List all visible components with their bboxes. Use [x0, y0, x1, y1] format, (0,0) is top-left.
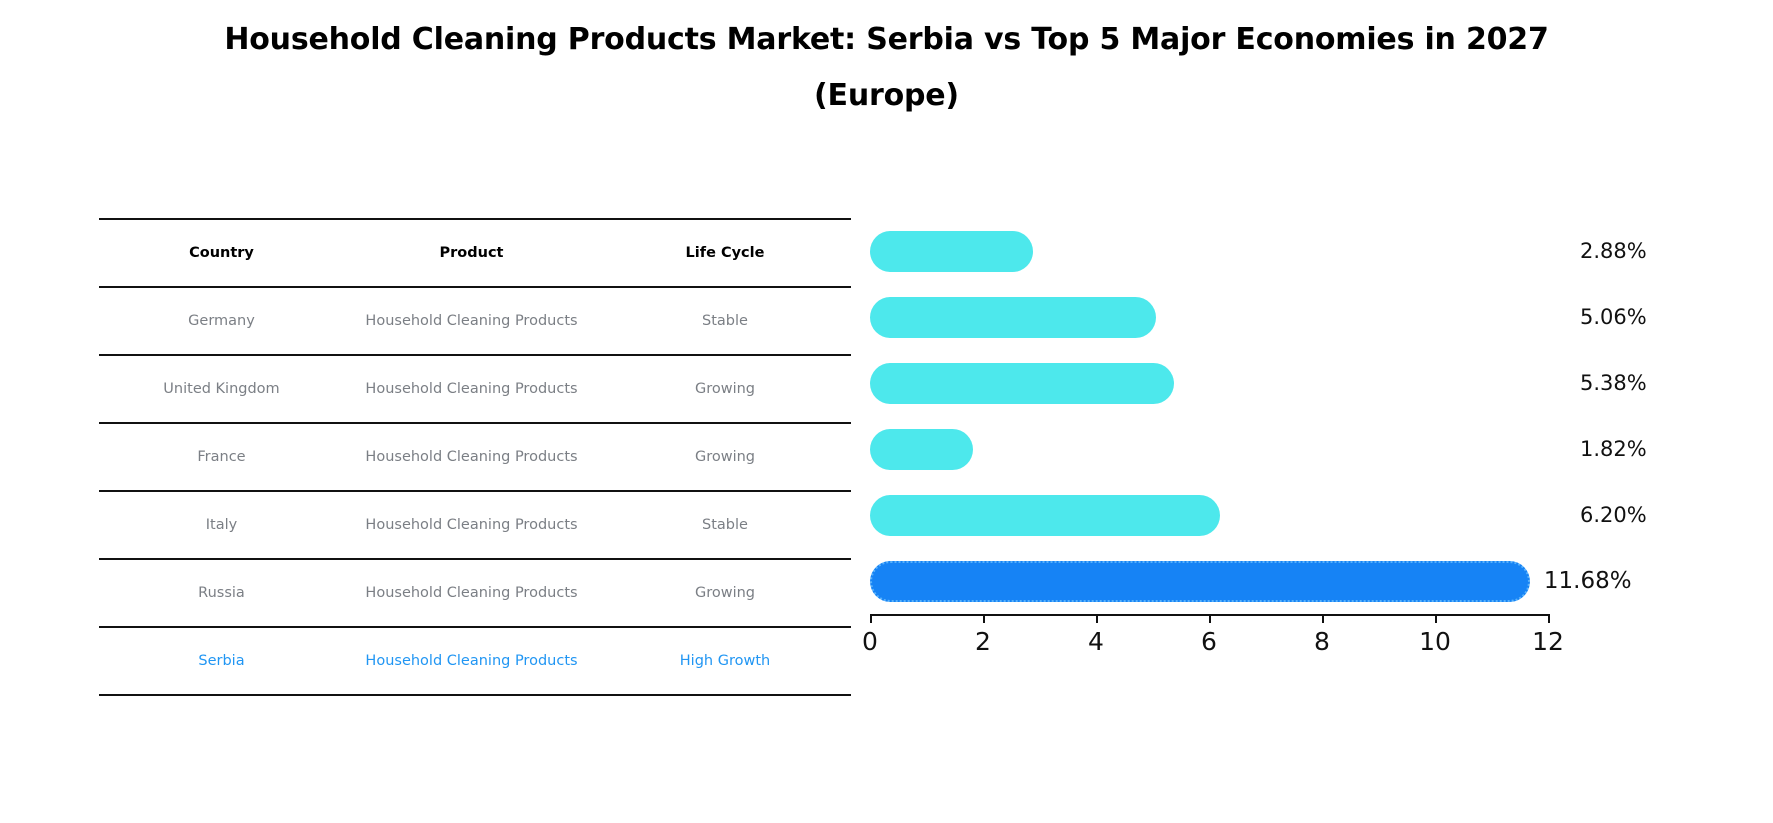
- bar-value-label: 11.68%: [1544, 568, 1632, 594]
- table-cell-life-cycle: High Growth: [599, 627, 851, 695]
- bar-serbia: [870, 561, 1530, 602]
- bar-france: [870, 363, 1174, 404]
- table-cell-country: Italy: [99, 491, 344, 559]
- bar-row: 2.88%: [870, 218, 1548, 284]
- x-axis-tick: [870, 614, 872, 623]
- table-body: GermanyHousehold Cleaning ProductsStable…: [99, 287, 851, 695]
- bar-value-label: 1.82%: [1580, 437, 1647, 461]
- x-axis-tick-label: 10: [1419, 627, 1451, 656]
- bar-value-label: 5.38%: [1580, 371, 1647, 395]
- country-table: Country Product Life Cycle GermanyHouseh…: [99, 218, 851, 696]
- x-axis-tick-label: 4: [1088, 627, 1104, 656]
- x-axis-tick: [1322, 614, 1324, 623]
- x-axis-tick: [1096, 614, 1098, 623]
- bars-area: 2.88%5.06%5.38%1.82%6.20%11.68%: [870, 218, 1548, 614]
- x-axis-tick: [1435, 614, 1437, 623]
- bar-italy: [870, 429, 973, 470]
- table-cell-life-cycle: Stable: [599, 287, 851, 355]
- table-cell-product: Household Cleaning Products: [344, 423, 599, 491]
- bar-row: 1.82%: [870, 416, 1548, 482]
- chart-title-line-1: Household Cleaning Products Market: Serb…: [0, 12, 1773, 68]
- x-axis-tick: [1548, 614, 1550, 623]
- bar-row: 11.68%: [870, 548, 1548, 614]
- table-row: FranceHousehold Cleaning ProductsGrowing: [99, 423, 851, 491]
- bar-chart-panel: 2.88%5.06%5.38%1.82%6.20%11.68% 02468101…: [870, 218, 1548, 688]
- x-axis-tick: [983, 614, 985, 623]
- column-header-product: Product: [344, 219, 599, 287]
- bar-value-label: 2.88%: [1580, 239, 1647, 263]
- x-axis-tick-label: 0: [862, 627, 878, 656]
- table-cell-life-cycle: Stable: [599, 491, 851, 559]
- table-cell-product: Household Cleaning Products: [344, 355, 599, 423]
- bar-value-label: 5.06%: [1580, 305, 1647, 329]
- x-axis-tick-label: 12: [1532, 627, 1564, 656]
- table-header-row: Country Product Life Cycle: [99, 219, 851, 287]
- bar-row: 5.06%: [870, 284, 1548, 350]
- table-cell-country: France: [99, 423, 344, 491]
- table-cell-country: United Kingdom: [99, 355, 344, 423]
- table-cell-product: Household Cleaning Products: [344, 559, 599, 627]
- table-row: ItalyHousehold Cleaning ProductsStable: [99, 491, 851, 559]
- chart-title: Household Cleaning Products Market: Serb…: [0, 0, 1773, 124]
- bar-row: 6.20%: [870, 482, 1548, 548]
- bar-germany: [870, 231, 1033, 272]
- table-cell-country: Russia: [99, 559, 344, 627]
- table-cell-country: Germany: [99, 287, 344, 355]
- table-cell-life-cycle: Growing: [599, 423, 851, 491]
- table-cell-life-cycle: Growing: [599, 559, 851, 627]
- chart-figure: Household Cleaning Products Market: Serb…: [0, 0, 1773, 823]
- chart-title-line-2: (Europe): [0, 68, 1773, 124]
- bar-united-kingdom: [870, 297, 1156, 338]
- x-axis-tick-label: 2: [975, 627, 991, 656]
- country-table-panel: Country Product Life Cycle GermanyHouseh…: [99, 218, 851, 696]
- table-cell-life-cycle: Growing: [599, 355, 851, 423]
- table-cell-product: Household Cleaning Products: [344, 287, 599, 355]
- bar-value-label: 6.20%: [1580, 503, 1647, 527]
- bar-row: 5.38%: [870, 350, 1548, 416]
- table-header: Country Product Life Cycle: [99, 219, 851, 287]
- column-header-country: Country: [99, 219, 344, 287]
- x-axis-tick-label: 6: [1201, 627, 1217, 656]
- x-axis-tick-label: 8: [1314, 627, 1330, 656]
- table-row: RussiaHousehold Cleaning ProductsGrowing: [99, 559, 851, 627]
- table-row: GermanyHousehold Cleaning ProductsStable: [99, 287, 851, 355]
- column-header-life-cycle: Life Cycle: [599, 219, 851, 287]
- bar-russia: [870, 495, 1220, 536]
- table-row: United KingdomHousehold Cleaning Product…: [99, 355, 851, 423]
- x-axis-tick: [1209, 614, 1211, 623]
- table-cell-country: Serbia: [99, 627, 344, 695]
- x-axis: 024681012: [870, 614, 1548, 688]
- table-cell-product: Household Cleaning Products: [344, 491, 599, 559]
- table-row: SerbiaHousehold Cleaning ProductsHigh Gr…: [99, 627, 851, 695]
- table-cell-product: Household Cleaning Products: [344, 627, 599, 695]
